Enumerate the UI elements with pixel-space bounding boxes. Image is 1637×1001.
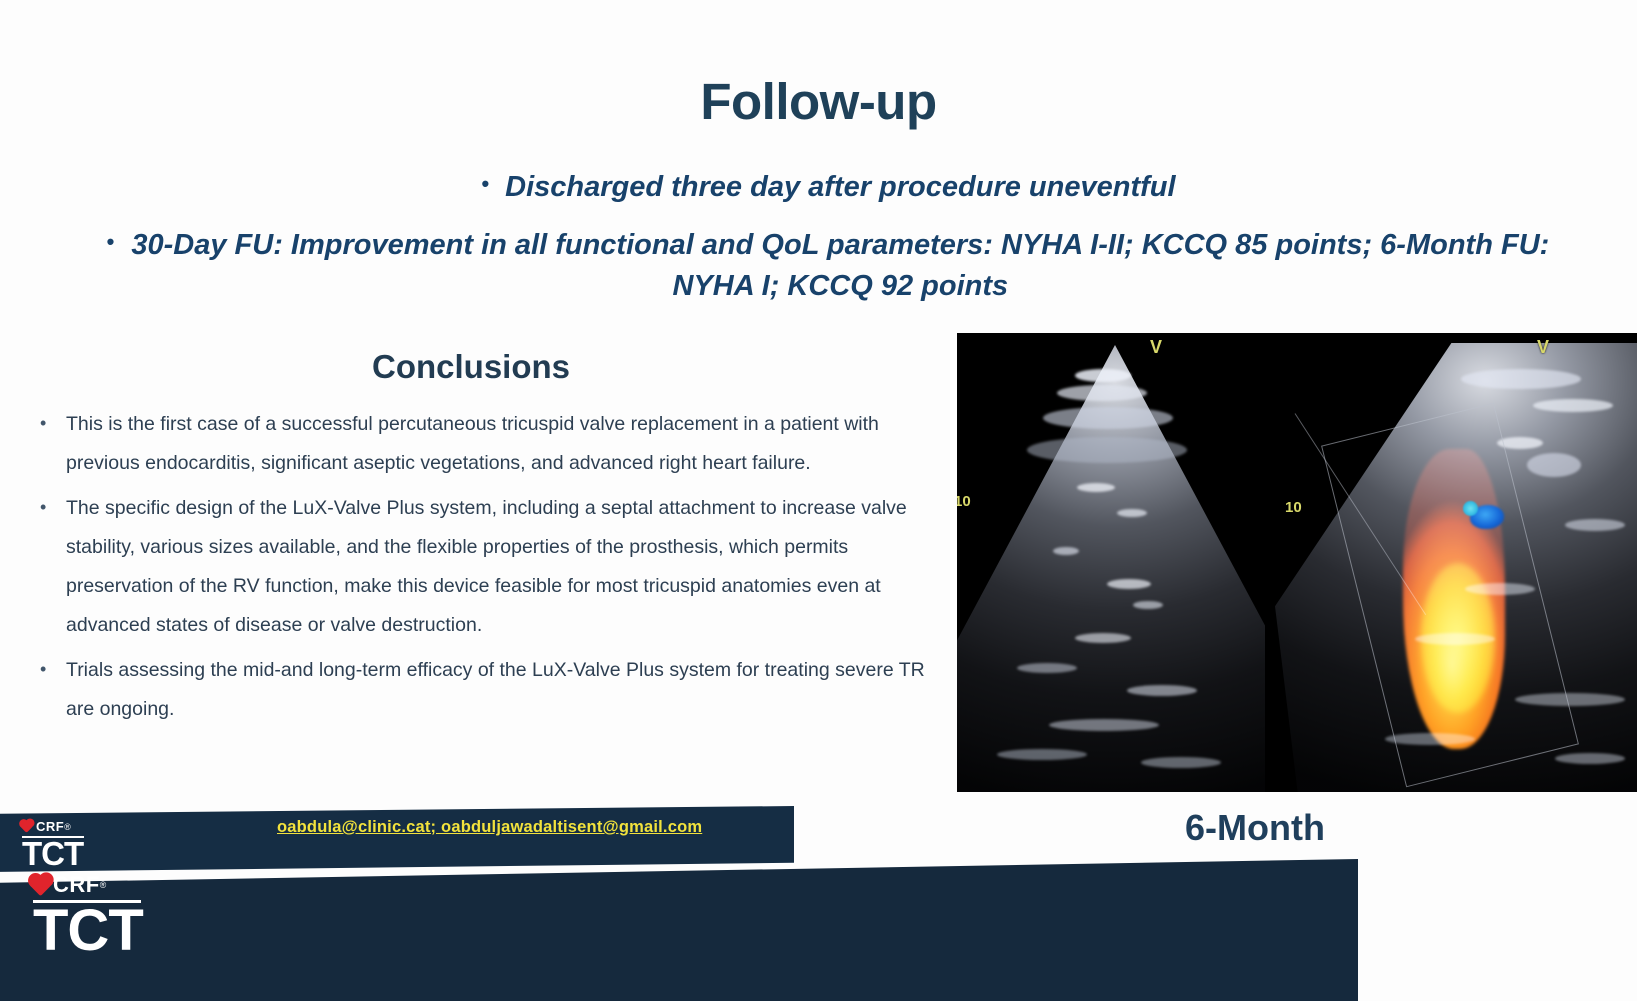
conclusion-text-3: Trials assessing the mid-and long-term e…	[66, 651, 935, 729]
registered-mark-icon: ®	[100, 880, 106, 890]
speckle	[1533, 399, 1613, 412]
slide-canvas: Follow-up • Discharged three day after p…	[0, 0, 1637, 1001]
conclusion-text-1: This is the first case of a successful p…	[66, 405, 935, 483]
conclusion-item: • This is the first case of a successful…	[40, 405, 935, 483]
speckle	[1043, 407, 1173, 429]
crf-lockup: CRF ®	[22, 819, 84, 834]
marker-v-label: V	[1150, 337, 1162, 358]
echo-image-bmode: V 10	[957, 333, 1265, 792]
footer-bar-upper	[0, 806, 794, 872]
crf-text: CRF	[53, 872, 100, 898]
tct-wordmark: TCT	[33, 904, 143, 957]
crf-lockup: CRF ®	[33, 872, 143, 898]
bullet-dot-icon: •	[40, 405, 66, 441]
marker-v-label: V	[1537, 337, 1549, 358]
echocardiography-panel: V 10 V 10	[957, 333, 1637, 792]
speckle	[1077, 483, 1115, 492]
speckle	[1461, 369, 1581, 389]
top-bullet-item-1: • Discharged three day after procedure u…	[60, 167, 1597, 208]
speckle	[1017, 663, 1077, 673]
doppler-flow-core	[1421, 563, 1495, 713]
speckle	[997, 749, 1087, 760]
speckle	[1133, 601, 1163, 609]
speckle	[1107, 579, 1151, 589]
top-bullet-item-2: • 30-Day FU: Improvement in all function…	[60, 225, 1597, 307]
speckle	[1127, 685, 1197, 696]
depth-label-10: 10	[1285, 499, 1302, 516]
top-bullet-list: • Discharged three day after procedure u…	[60, 167, 1597, 308]
speckle	[1049, 719, 1159, 731]
registered-mark-icon: ®	[64, 822, 70, 832]
speckle	[1027, 437, 1187, 463]
speckle	[1117, 509, 1147, 517]
contact-emails[interactable]: oabdula@clinic.cat; oabduljawadaltisent@…	[277, 818, 702, 837]
bullet-dot-icon: •	[481, 167, 489, 200]
tct-logo-large: CRF ® TCT	[33, 872, 143, 957]
speckle	[1075, 369, 1131, 382]
footer-bar-lower	[0, 856, 1358, 1001]
depth-label-10: 10	[957, 493, 971, 510]
speckle	[1565, 519, 1625, 531]
speckle	[1527, 453, 1581, 477]
doppler-cyan-flow	[1463, 501, 1478, 516]
bullet-dot-icon: •	[107, 225, 115, 258]
conclusions-list: • This is the first case of a successful…	[40, 405, 935, 735]
bullet-dot-icon: •	[40, 651, 66, 687]
conclusions-heading: Conclusions	[372, 348, 570, 386]
tct-logo-small: CRF ® TCT	[22, 819, 84, 869]
echo-image-color-doppler: V 10	[1265, 333, 1637, 792]
bullet-dot-icon: •	[40, 489, 66, 525]
crf-text: CRF	[36, 819, 64, 834]
heart-icon	[20, 820, 33, 833]
top-bullet-text-1: Discharged three day after procedure une…	[505, 167, 1175, 208]
echo-caption-6month: 6-Month	[1185, 807, 1325, 849]
speckle	[1075, 633, 1131, 643]
speckle	[1555, 753, 1625, 764]
conclusion-item: • Trials assessing the mid-and long-term…	[40, 651, 935, 729]
slide-title: Follow-up	[0, 72, 1637, 131]
top-bullet-text-2: 30-Day FU: Improvement in all functional…	[130, 225, 1550, 307]
heart-icon	[30, 874, 51, 895]
conclusion-item: • The specific design of the LuX-Valve P…	[40, 489, 935, 645]
speckle	[1053, 547, 1079, 555]
tct-wordmark: TCT	[22, 839, 84, 869]
speckle	[1057, 385, 1147, 401]
speckle	[1141, 757, 1221, 768]
conclusion-text-2: The specific design of the LuX-Valve Plu…	[66, 489, 935, 645]
